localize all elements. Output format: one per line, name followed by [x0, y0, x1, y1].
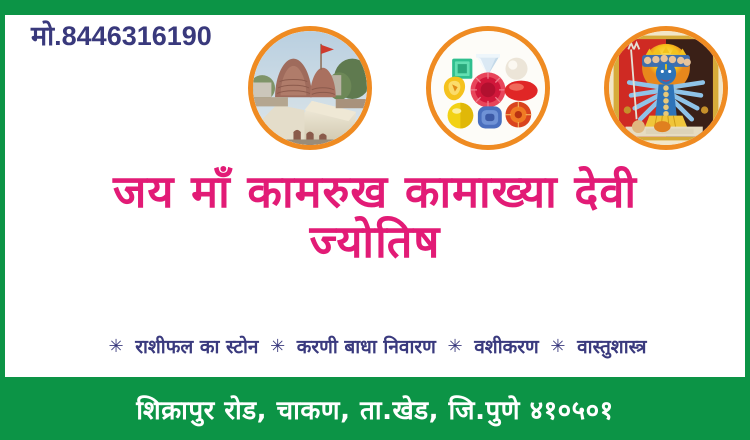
- temple-illustration-icon: [253, 31, 367, 145]
- navratna-gemstones-photo: [426, 26, 550, 150]
- kamakhya-temple-photo: [248, 26, 372, 150]
- service-item-4: वास्तुशास्त्र: [577, 336, 646, 358]
- title-line-2: ज्योतिष: [5, 217, 745, 267]
- service-item-2: करणी बाधा निवारण: [297, 336, 436, 358]
- deity-photo-inner: [609, 31, 723, 145]
- kali-devi-illustration-icon: [609, 31, 723, 145]
- asterisk-icon-1: ✳: [108, 336, 123, 357]
- devi-face: [656, 62, 676, 84]
- pearl-gem: [505, 58, 527, 80]
- phone-number: मो.8446316190: [31, 23, 212, 50]
- temple-photo-inner: [253, 31, 367, 145]
- hessonite-gem: [505, 102, 531, 128]
- address-text: शिक्रापुर रोड, चाकण, ता.खेड, जि.पुणे ४१०…: [136, 391, 613, 427]
- ruby-gem: [471, 72, 506, 107]
- asterisk-icon-4: ✳: [550, 336, 565, 357]
- asterisk-icon-3: ✳: [448, 336, 463, 357]
- title-line-1: जय माँ कामरुख कामाख्या देवी: [5, 168, 745, 217]
- service-item-1: राशीफल का स्टोन: [135, 336, 258, 358]
- emerald-gem: [452, 59, 472, 79]
- service-item-3: वशीकरण: [474, 336, 539, 358]
- blue-sapphire-gem: [478, 106, 502, 128]
- services-list: ✳ राशीफल का स्टोन ✳ करणी बाधा निवारण ✳ व…: [5, 333, 745, 359]
- business-title: जय माँ कामरुख कामाख्या देवी ज्योतिष: [5, 168, 745, 267]
- address-bar: शिक्रापुर रोड, चाकण, ता.खेड, जि.पुणे ४१०…: [0, 377, 750, 440]
- top-green-band: [0, 0, 750, 15]
- navratna-gemstones-icon: [431, 31, 545, 145]
- yellow-cats-eye-gem: [448, 103, 474, 129]
- asterisk-icon-2: ✳: [270, 336, 285, 357]
- red-coral-gem: [505, 81, 538, 101]
- gems-photo-inner: [431, 31, 545, 145]
- phone-number-text: मो.8446316190: [31, 21, 212, 51]
- kali-kamakhya-devi-photo: [604, 26, 728, 150]
- business-card: मो.8446316190: [0, 0, 750, 440]
